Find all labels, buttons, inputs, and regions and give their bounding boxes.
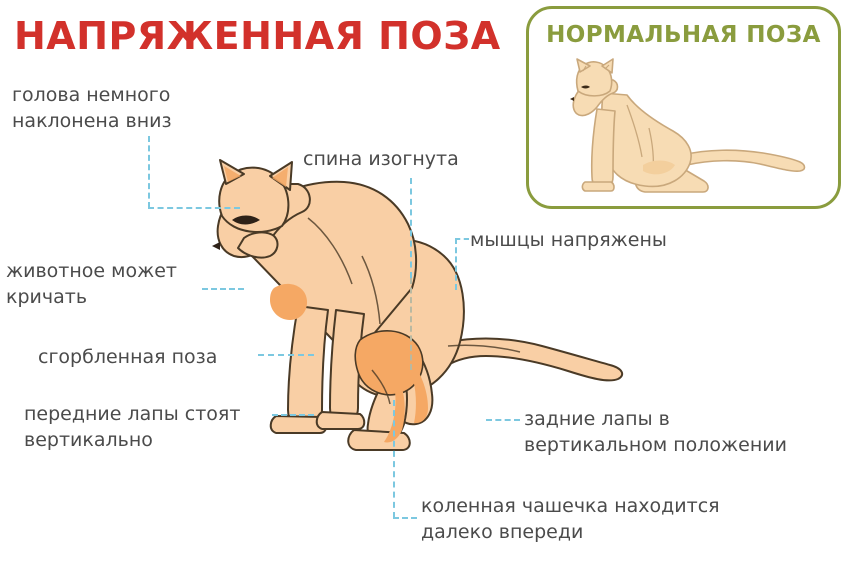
leader-head-vertical — [148, 136, 150, 208]
leader-knee-horizontal — [393, 517, 417, 519]
normal-pose-title: НОРМАЛЬНАЯ ПОЗА — [529, 22, 838, 48]
annotation-muscles-tense: мышцы напряжены — [470, 227, 667, 253]
annotation-animal-may-cry: животное может кричать — [6, 258, 177, 310]
annotation-front-paws-vertical: передние лапы стоят вертикально — [24, 401, 240, 453]
annotation-head-tilted-down: голова немного наклонена вниз — [12, 82, 172, 134]
leader-head-horizontal — [148, 207, 240, 209]
leader-muscles-vertical — [455, 238, 457, 290]
annotation-back-arched: спина изогнута — [303, 146, 459, 172]
leader-hunched-horizontal — [258, 354, 314, 356]
infographic-root: НАПРЯЖЕННАЯ ПОЗА НОРМАЛЬНАЯ ПОЗА — [0, 0, 851, 566]
annotation-hind-paws-vertical: задние лапы в вертикальном положении — [524, 406, 787, 458]
leader-knee-vertical — [393, 400, 395, 518]
leader-back-vertical-lower — [410, 278, 412, 370]
leader-front-paws-horizontal — [272, 414, 314, 416]
leader-back-vertical — [410, 178, 412, 278]
leader-cry-horizontal — [202, 288, 244, 290]
leader-muscles-horizontal — [455, 238, 469, 240]
annotation-kneecap-far-forward: коленная чашечка находится далеко вперед… — [421, 493, 720, 545]
annotation-hunched-posture: сгорбленная поза — [38, 344, 217, 370]
page-title: НАПРЯЖЕННАЯ ПОЗА — [14, 17, 501, 55]
leader-hind-paws-horizontal — [486, 419, 520, 421]
